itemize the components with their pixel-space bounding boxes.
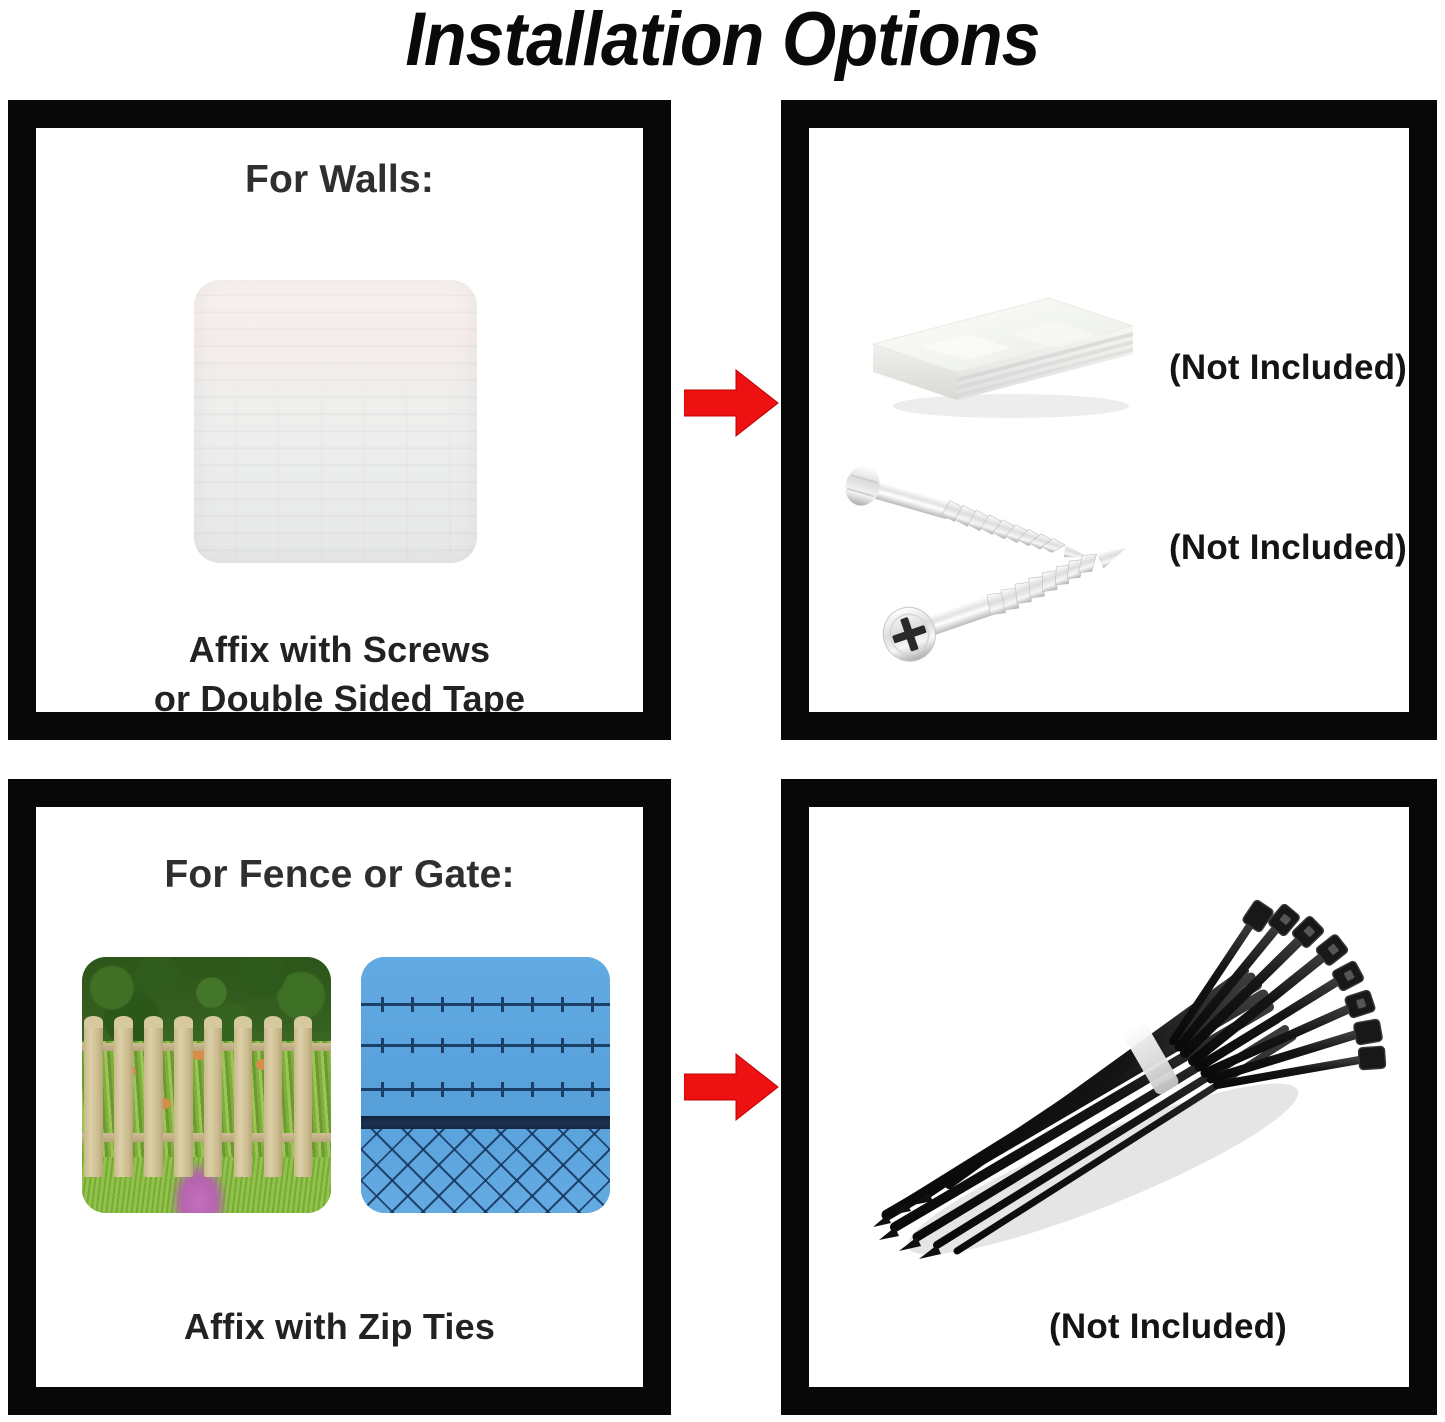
caption-line-1: Affix with Screws: [36, 626, 643, 675]
panel-for-walls-heading: For Walls:: [36, 158, 643, 202]
panel-zip-ties: (Not Included): [781, 779, 1437, 1415]
zip-ties-not-included-note: (Not Included): [1049, 1307, 1287, 1347]
screws-icon: [829, 448, 1189, 698]
fence-picket: [264, 1021, 282, 1177]
panel-for-fence-caption: Affix with Zip Ties: [36, 1303, 643, 1352]
barbed-wire-strand: [361, 1003, 610, 1006]
white-brick-wall-image: [194, 280, 477, 563]
arrow-right-icon: [684, 1052, 780, 1122]
double-sided-tape-stack-image: [861, 238, 1151, 428]
fence-picket: [174, 1021, 192, 1177]
fence-top-rail: [361, 1116, 610, 1129]
panel-for-fence-or-gate: For Fence or Gate:: [8, 779, 671, 1415]
tape-stack-icon: [861, 238, 1151, 428]
chain-link-fence-photo: [361, 957, 610, 1213]
fence-picket: [204, 1021, 222, 1177]
tape-not-included-note: (Not Included): [1169, 348, 1407, 388]
silver-wood-screws-image: [829, 448, 1189, 698]
black-zip-ties-bundle-image: [833, 877, 1393, 1277]
panel-hardware: (Not Included): [781, 100, 1437, 740]
barbed-wire-strand: [361, 1044, 610, 1047]
fence-picket: [114, 1021, 132, 1177]
panel-for-walls-content: For Walls: Affix with Screws or Double S…: [36, 128, 643, 712]
caption-line-2: or Double Sided Tape: [36, 675, 643, 712]
fence-picket: [144, 1021, 162, 1177]
barbed-wire-strand: [361, 1088, 610, 1091]
arrow-right-icon: [684, 368, 780, 438]
chain-link-mesh: [361, 1129, 610, 1213]
panel-zip-ties-content: (Not Included): [809, 807, 1409, 1387]
fence-picket: [84, 1021, 102, 1177]
panel-hardware-content: (Not Included): [809, 128, 1409, 712]
wooden-picket-fence-photo: [82, 957, 331, 1213]
panel-for-walls: For Walls: Affix with Screws or Double S…: [8, 100, 671, 740]
fence-picket: [294, 1021, 312, 1177]
panel-for-fence-heading: For Fence or Gate:: [36, 853, 643, 897]
red-right-arrow-bottom: [684, 1052, 780, 1122]
picket-group: [82, 1021, 331, 1177]
screws-not-included-note: (Not Included): [1169, 528, 1407, 568]
zip-ties-icon: [833, 877, 1393, 1277]
panel-for-fence-content: For Fence or Gate:: [36, 807, 643, 1387]
page-title: Installation Options: [58, 0, 1387, 83]
fence-picket: [234, 1021, 252, 1177]
panel-for-walls-caption: Affix with Screws or Double Sided Tape: [36, 626, 643, 712]
red-right-arrow-top: [684, 368, 780, 438]
